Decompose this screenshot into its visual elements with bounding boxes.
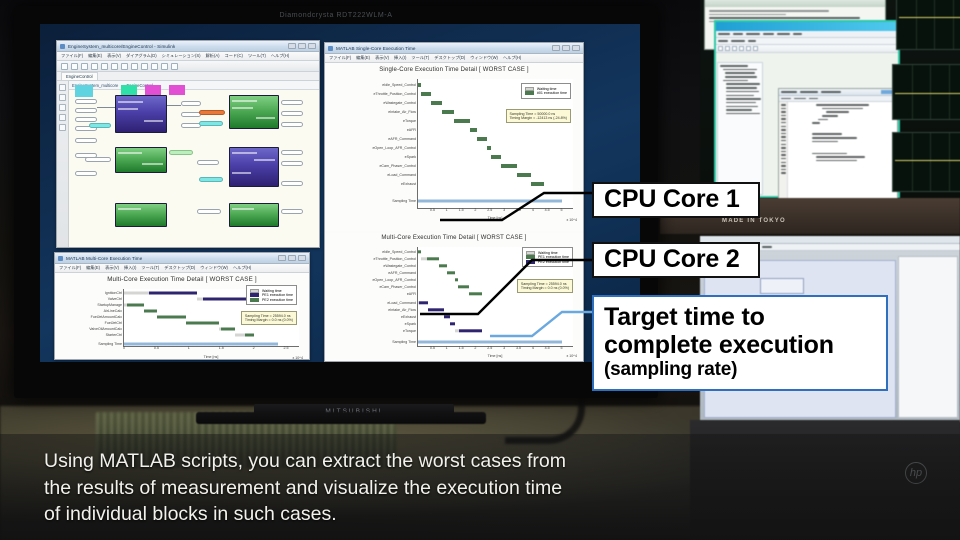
close-button[interactable] [308,43,316,49]
mcs-bar-4 [157,316,187,319]
mcs-bar-5 [186,322,218,325]
callout-target-line1: Target time to [604,303,765,331]
subtitle-text: Using MATLAB scripts, you can extract th… [44,448,804,528]
single-core-window-buttons[interactable] [552,45,580,51]
mcs-wait-7 [235,334,244,337]
signal-cyan-2[interactable] [199,121,223,126]
mcs-bar-6 [221,328,235,331]
subsystem-block-2[interactable] [229,95,279,129]
legend-label-core1: #01 execution time [537,91,567,95]
legend-label-waiting: Waiting time [262,289,282,293]
subtitle-line-3: of individual blocks in such cases. [44,501,804,528]
mc-bar-pe2-4 [459,329,482,332]
signal-out-9[interactable] [281,150,303,155]
highlight-icon[interactable] [59,114,66,121]
model-settings-icon[interactable] [121,63,128,70]
mc-ylabel-4: eOpen_Loop_AFR_Control [372,278,416,282]
leader-line-core1 [440,188,610,224]
ylabel-11: eExhaust [401,182,416,186]
signal-out-7[interactable] [197,160,219,165]
palette-block-green[interactable] [121,85,137,95]
simulink-model-tab[interactable]: EngineControl [61,72,98,80]
mc-ylabel-5: eCam_Phaser_Control [379,285,416,289]
ylabel-6: eAFR_Command [388,137,416,141]
legend-swatch-waiting [250,289,259,293]
single-core-chart-title: Single-Core Execution Time Detail [ WORS… [325,67,583,73]
callout-core2-text: CPU Core 2 [604,245,740,274]
mc-xtick-1: 1 [446,346,448,350]
callout-core1-text: CPU Core 1 [604,185,740,214]
close-button[interactable] [572,45,580,51]
mc-ylabel-9: eExhaust [401,315,416,319]
secondary-monitor [700,0,960,201]
annotation-timing-margin: Timing Margin = 0.0 ns (0.0%) [245,318,293,322]
bar-task-9 [501,164,517,168]
mc-xtick-5: 3 [503,346,505,350]
menu-file[interactable]: ファイル(F) [61,53,83,59]
simulink-canvas[interactable]: EngineSystem_multicore ▸ EngineControl [57,81,319,247]
menu-insert[interactable]: 挿入(I) [124,265,136,271]
legend-label-pe1: PE1 execution time [262,293,293,297]
simulink-window-buttons[interactable] [288,43,316,49]
scope-display-bottom [892,132,960,192]
single-core-titlebar[interactable]: MATLAB Single-Core Execution Time [325,43,583,54]
mc-ylabel-2: eWastegate_Control [383,264,416,268]
multi-core-small-window-title: MATLAB Multi-Core Execution Time [66,256,142,261]
bar-task-3 [442,110,454,114]
ylabel-2: eWastegate_Control [383,101,416,105]
bar-task-5 [470,128,477,132]
mc-ylabel-6: eAFR [407,292,416,296]
mcs-bar-0 [149,292,197,295]
mcs-xtick-5: 2.5 [284,346,289,350]
wire-1 [97,107,115,108]
signal-in-8[interactable] [85,157,111,162]
mcs-bar-2 [127,304,143,307]
signal-out-4[interactable] [281,100,303,105]
multi-core-small-titlebar[interactable]: MATLAB Multi-Core Execution Time [55,253,309,264]
menu-desktop[interactable]: デスクトップ(D) [434,55,465,61]
signal-out-12[interactable] [197,209,221,214]
minimize-button[interactable] [288,43,296,49]
monitor-model-label: Diamondcrysta RDT222WLM-A [14,12,658,19]
source-editor-window[interactable] [778,88,898,201]
legend-label-waiting: Waiting time [537,87,557,91]
mc-ylabel-1: eThrottle_Position_Control [373,257,416,261]
signal-out-1[interactable] [181,101,201,106]
mcs-ylabel-0: IgnitionCtrl [105,291,122,295]
wire-2 [167,105,181,106]
ylabel-0: eIdle_Speed_Control [382,83,416,87]
subsystem-block-3[interactable] [115,147,167,173]
mc-ylabel-7: eLoad_Command [387,301,416,305]
multi-core-chart-title: Multi-Core Execution Time Detail [ WORST… [325,235,583,241]
bar-task-11 [531,182,544,186]
mcs-ylabel-6: ValveOilAmountCalc [89,327,122,331]
explore-icon[interactable] [59,124,66,131]
device-brand-label: MADE IN TOKYO [722,218,786,224]
mc-xtick-8: 4.5 [545,346,550,350]
mc-xtick-9: 5 [561,346,563,350]
matlab-app-icon [328,46,333,51]
mcs-ylabel-1: ValveCtrl [108,297,122,301]
subsystem-block-5[interactable] [115,203,167,227]
subsystem-block-4[interactable] [229,147,279,187]
ylabel-12: Sampling Time [392,199,416,203]
signal-out-2[interactable] [181,112,201,117]
mc-ylabel-11: eTorque [403,329,416,333]
menu-help[interactable]: ヘルプ(H) [233,265,251,271]
legend-swatch-core1 [525,91,534,95]
mc-ylabel-8: eIntake_Air_Flow [388,308,416,312]
signal-cyan-3[interactable] [199,177,223,182]
mc-xtick-4: 2.5 [487,346,492,350]
annotate-icon[interactable] [59,104,66,111]
single-core-annotation: Sampling Time = 50000.0 ns Timing Margin… [506,109,572,123]
multi-core-xaxis-title: Time [ns] [417,354,573,358]
open-icon[interactable] [71,63,78,70]
mcs-bar-3 [144,310,157,313]
menu-window[interactable]: ウィンドウ(W) [200,265,228,271]
multi-core-small-legend: Waiting time PE1 execution time PE2 exec… [246,285,297,305]
mcs-xtick-4: 2 [253,346,255,350]
menu-simulation[interactable]: シミュレーション(S) [162,53,201,59]
zoom-out-icon[interactable] [171,63,178,70]
pan-icon[interactable] [59,84,66,91]
mc-ylabel-3: eAFR_Command [388,271,416,275]
bar-task-4 [454,119,471,123]
mc-xtick-7: 4 [532,346,534,350]
menu-file[interactable]: ファイル(F) [329,55,351,61]
maximize-button[interactable] [288,255,296,261]
leader-line-target [490,300,608,342]
simulink-menubar[interactable]: ファイル(F) 編集(E) 表示(V) ダイアグラム(D) シミュレーション(S… [57,52,319,61]
multi-core-small-menubar[interactable]: ファイル(F) 編集(E) 表示(V) 挿入(I) ツール(T) デスクトップ(… [55,264,309,273]
palette-block-magenta[interactable] [145,85,161,95]
mcs-xtick-3: 1.5 [219,346,224,350]
menu-help[interactable]: ヘルプ(H) [271,53,289,59]
inport-group-g[interactable] [75,171,97,176]
multi-core-small-chart-title: Multi-Core Execution Time Detail [ WORST… [55,276,309,283]
menu-diagram[interactable]: ダイアグラム(D) [126,53,157,59]
annotation-timing-margin: Timing Margin = -12413 ns (-24.8%) [510,116,568,120]
menu-help[interactable]: ヘルプ(H) [503,55,521,61]
subtitle-line-2: the results of measurement and visualize… [44,475,804,502]
simulink-titlebar[interactable]: EngineSystem_multicore/EngineControl - S… [57,41,319,52]
ylabel-7: eOpen_Loop_AFR_Control [372,146,416,150]
callout-target-time: Target time to complete execution (sampl… [592,295,888,391]
stop-icon[interactable] [141,63,148,70]
menu-code[interactable]: コード(C) [225,53,243,59]
monitor-stand [196,412,486,424]
build-icon[interactable] [151,63,158,70]
subsystem-block-1[interactable] [115,95,167,133]
signal-out-5[interactable] [281,111,303,116]
ylabel-5: eAFR [407,128,416,132]
inport-group-e[interactable] [75,138,97,143]
mcs-xtick-2: 1 [188,346,190,350]
save-icon[interactable] [81,63,88,70]
menu-view[interactable]: 表示(V) [107,53,121,59]
menu-insert[interactable]: 挿入(I) [394,55,406,61]
undo-icon[interactable] [91,63,98,70]
mcs-ylabel-4: FuelJetAmountCalc [91,315,122,319]
mc-ylabel-10: eSpark [405,322,416,326]
subtitle-line-1: Using MATLAB scripts, you can extract th… [44,448,804,475]
bar-task-6 [477,137,487,141]
maximize-button[interactable] [562,45,570,51]
callout-target-line3: (sampling rate) [604,359,737,382]
mcs-xtick-1: 0.5 [154,346,159,350]
run-icon[interactable] [131,63,138,70]
simulink-window[interactable]: EngineSystem_multicore/EngineControl - S… [56,40,320,248]
ylabel-10: eLoad_Command [387,173,416,177]
signal-out-13[interactable] [281,209,303,214]
menu-edit[interactable]: 編集(E) [86,265,100,271]
bar-task-0 [418,83,421,87]
mc-xtick-0: 0.5 [430,346,435,350]
legend-swatch-pe1 [250,293,259,297]
signal-green-1[interactable] [169,150,193,155]
single-core-window-title: MATLAB Single-Core Execution Time [336,46,416,51]
menu-analysis[interactable]: 解析(A) [206,53,220,59]
redo-icon[interactable] [101,63,108,70]
subsystem-block-6[interactable] [229,203,279,227]
signal-out-10[interactable] [281,161,303,166]
menu-tools[interactable]: ツール(T) [411,55,429,61]
simulink-side-toolbar[interactable] [57,81,69,247]
multi-core-small-window-buttons[interactable] [278,255,306,261]
legend-label-pe2: PE2 execution time [262,298,293,302]
menu-view[interactable]: 表示(V) [105,265,119,271]
bar-task-7 [487,146,492,150]
mcs-wait-0 [124,292,149,295]
inport-group-b[interactable] [75,108,97,113]
mc-xtick-6: 3.5 [516,346,521,350]
legend-swatch-waiting [525,87,534,91]
callout-cpu-core-2: CPU Core 2 [592,242,760,278]
mcs-ylabel-7: StarterCtrl [106,333,122,337]
bar-task-10 [517,173,530,177]
mcs-bar-sampling-time [124,343,278,346]
ylabel-9: eCam_Phaser_Control [379,164,416,168]
inport-group-c[interactable] [75,117,97,122]
menu-desktop[interactable]: デスクトップ(D) [164,265,195,271]
mcs-ylabel-8: Sampling Time [98,342,122,346]
matlab-app-icon [58,256,63,261]
maximize-button[interactable] [298,43,306,49]
project-tree[interactable] [717,62,763,195]
menu-tools[interactable]: ツール(T) [248,53,266,59]
new-model-icon[interactable] [61,63,68,70]
renesas-ide-window[interactable] [714,20,900,198]
inport-group-a[interactable] [75,99,97,104]
callout-target-line2: complete execution [604,331,834,359]
multi-core-small-chart: Multi-Core Execution Time Detail [ WORST… [55,273,309,359]
menu-view[interactable]: 表示(V) [375,55,389,61]
single-core-menubar[interactable]: ファイル(F) 編集(E) 表示(V) 挿入(I) ツール(T) デスクトップ(… [325,54,583,63]
mcs-ylabel-5: FuelJetCtrl [105,321,122,325]
simulink-window-title: EngineSystem_multicore/EngineControl - S… [68,44,175,49]
minimize-button[interactable] [278,255,286,261]
scope-display-mid [892,64,960,120]
xtick-0: 0.5 [430,208,435,212]
mc-ylabel-12: Sampling Time [392,340,416,344]
simulink-toolbar[interactable] [57,61,319,72]
multi-core-small-annotation: Sampling Time = 25594.0 ns Timing Margin… [241,311,297,325]
mcs-xtick-0: 0 [123,346,125,350]
minimize-button[interactable] [552,45,560,51]
ide-window-top-titlebar [705,0,885,7]
scope-display-top [896,0,960,50]
mc-xtick-3: 2 [474,346,476,350]
ylabel-8: eSpark [405,155,416,159]
mcs-ylabel-2: StartupManage [97,303,122,307]
menu-edit[interactable]: 編集(E) [356,55,370,61]
library-browser-icon[interactable] [111,63,118,70]
multi-core-small-xaxis-title: Time [ns] [123,355,299,359]
fit-to-view-icon[interactable] [59,94,66,101]
signal-out-3[interactable] [181,123,201,128]
mc-ylabel-0: eIdle_Speed_Control [382,250,416,254]
palette-block-magenta2[interactable] [169,85,185,95]
bar-task-2 [431,101,441,105]
multi-core-small-window[interactable]: MATLAB Multi-Core Execution Time ファイル(F)… [54,252,310,360]
ylabel-3: eIntake_Air_Flow [388,110,416,114]
bar-task-1 [421,92,431,96]
legend-swatch-pe2 [250,298,259,302]
bar-task-8 [491,155,501,159]
palette-block-cyan[interactable] [75,85,93,97]
signal-out-11[interactable] [281,181,303,186]
callout-cpu-core-1: CPU Core 1 [592,182,760,218]
close-button[interactable] [298,255,306,261]
signal-out-6[interactable] [281,122,303,127]
ylabel-1: eThrottle_Position_Control [373,92,416,96]
mcs-ylabel-3: AirLineCalc [104,309,122,313]
menu-tools[interactable]: ツール(T) [141,265,159,271]
mc-bar-pe2-3 [450,322,455,325]
ylabel-4: eTorque [403,119,416,123]
menu-window[interactable]: ウィンドウ(W) [470,55,498,61]
mcs-bar-7 [245,334,254,337]
signal-cyan-1[interactable] [89,123,111,128]
renesas-ide-titlebar [716,22,898,31]
menu-file[interactable]: ファイル(F) [59,265,81,271]
mc-xtick-2: 1.5 [459,346,464,350]
zoom-in-icon[interactable] [161,63,168,70]
simulink-app-icon [60,44,65,49]
single-core-legend: Waiting time #01 execution time [521,83,571,99]
screenshot-stage: MADE IN TOKYO hp Diamondcrysta RDT222WLM… [0,0,960,540]
signal-orange-1[interactable] [199,110,225,115]
menu-edit[interactable]: 編集(E) [88,53,102,59]
